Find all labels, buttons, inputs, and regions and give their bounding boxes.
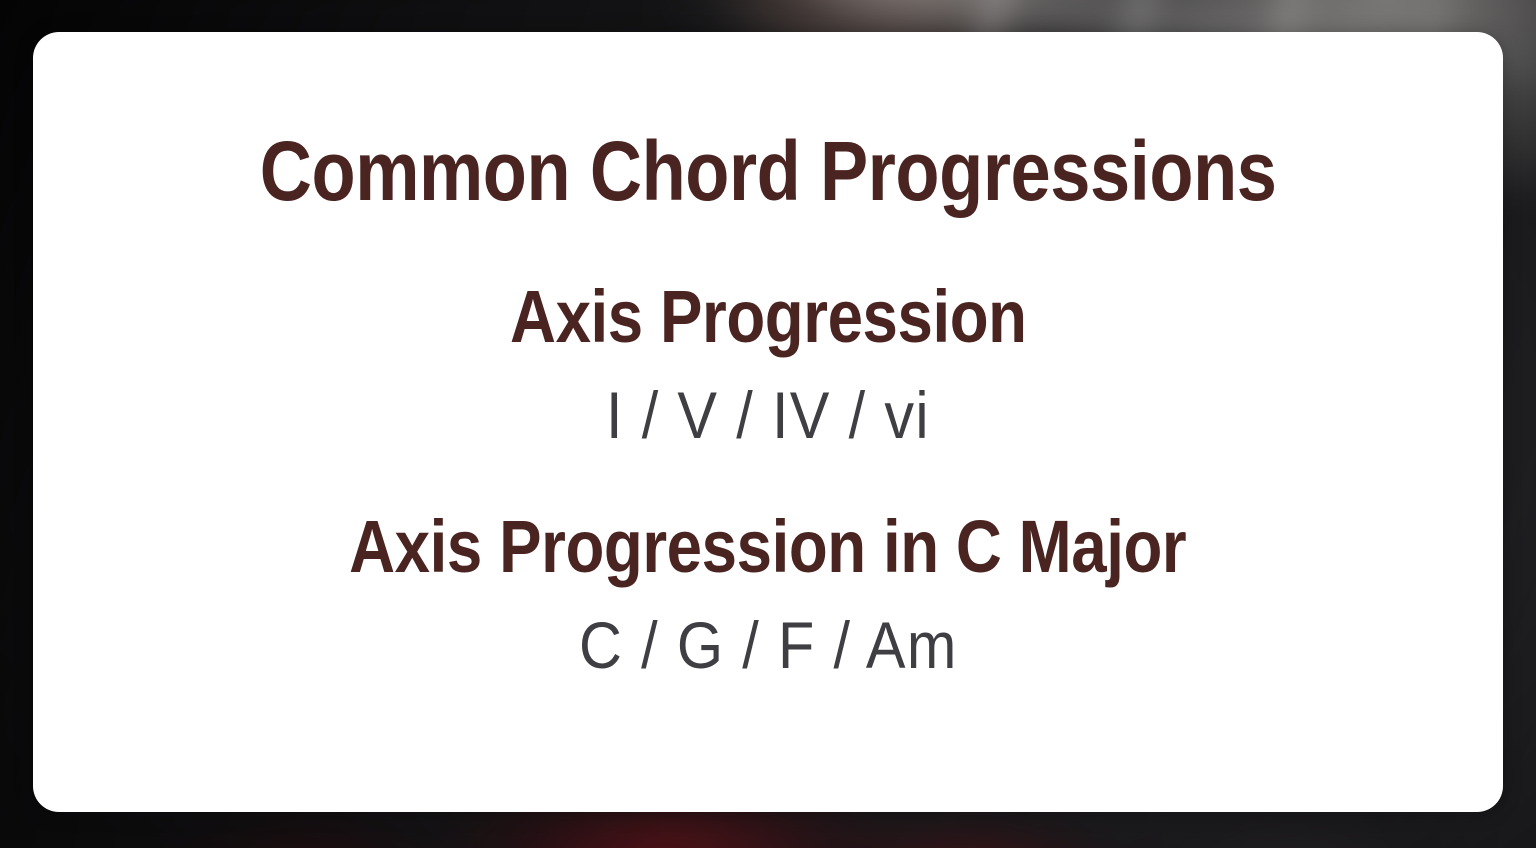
section-values-roman-numerals: I / V / IV / vi (606, 379, 930, 452)
section-values-chord-names: C / G / F / Am (579, 609, 958, 682)
content-card: Common Chord Progressions Axis Progressi… (33, 32, 1503, 812)
section-heading-axis-progression-c-major: Axis Progression in C Major (349, 507, 1186, 587)
slide-canvas: Common Chord Progressions Axis Progressi… (0, 0, 1536, 848)
section-heading-axis-progression: Axis Progression (510, 277, 1027, 357)
page-title: Common Chord Progressions (260, 126, 1277, 217)
